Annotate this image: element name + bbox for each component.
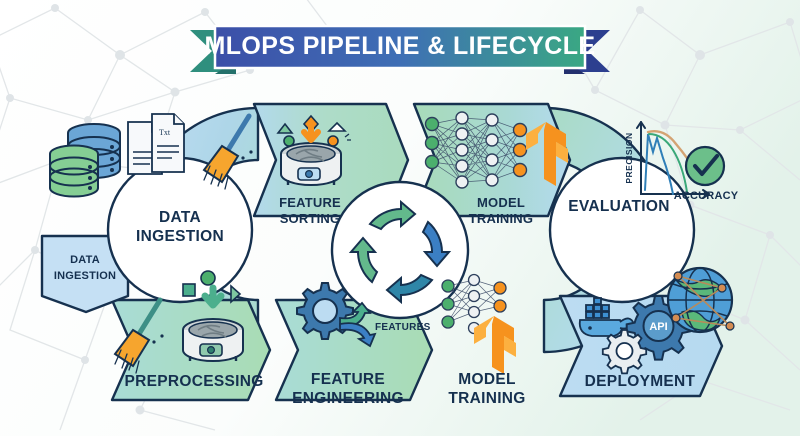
- label-feature-sorting-line2: SORTING: [280, 211, 341, 226]
- label-feature-sorting-line1: FEATURE: [279, 195, 341, 210]
- label-feature-engineering-line1: FEATURE: [311, 371, 385, 388]
- label-model-training-top-line1: MODEL: [477, 195, 525, 210]
- label-feature-engineering-line2: ENGINEERING: [292, 390, 404, 407]
- label-preprocessing: PREPROCESSING: [124, 373, 263, 390]
- label-layer: DATA INGESTION DATA INGESTION FEATURE SO…: [0, 0, 800, 436]
- label-model-training-top-line2: TRAINING: [469, 211, 533, 226]
- label-data-ingestion-line2: INGESTION: [136, 228, 224, 245]
- label-model-training-bottom-line1: MODEL: [458, 371, 515, 388]
- label-data-ingestion-line1: DATA: [159, 209, 201, 226]
- infographic-canvas: MLOPS PIPELINE & LIFECYCLE: [0, 0, 800, 436]
- label-model-training-bottom-line2: TRAINING: [448, 390, 525, 407]
- label-data-ingestion-arc-line1: DATA: [70, 254, 100, 266]
- label-evaluation: EVALUATION: [568, 198, 669, 215]
- label-deployment: DEPLOYMENT: [585, 373, 696, 390]
- label-data-ingestion-arc-line2: INGESTION: [54, 270, 116, 282]
